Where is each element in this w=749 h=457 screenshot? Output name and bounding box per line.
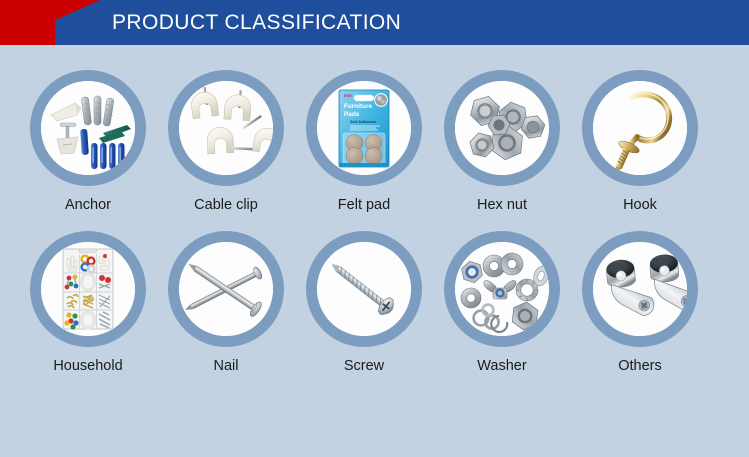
crossed-nails-icon (179, 242, 273, 336)
category-label: Household (53, 359, 122, 374)
page-header: PRODUCT CLASSIFICATION (0, 0, 749, 45)
category-image-frame (593, 81, 687, 175)
cable-clip-icon (179, 81, 273, 175)
category-label: Hex nut (477, 198, 527, 213)
category-item-others[interactable]: Others (582, 231, 698, 374)
category-item-washer[interactable]: Washer (444, 231, 560, 374)
category-disc (306, 231, 422, 347)
category-label: Anchor (65, 198, 111, 213)
category-item-nail[interactable]: Nail (168, 231, 284, 374)
package-line2: Pads (344, 111, 360, 118)
hex-nut-pile-icon (455, 81, 549, 175)
package-line3: Self Adhesive (350, 119, 377, 124)
category-item-hex-nut[interactable]: Hex nut (444, 70, 560, 213)
category-label: Cable clip (194, 198, 258, 213)
closet-rod-flange-icon (593, 242, 687, 336)
category-image-frame: mm Furniture Pads Self Adhesive (317, 81, 411, 175)
category-image-frame (455, 242, 549, 336)
category-disc (30, 231, 146, 347)
category-label: Others (618, 359, 662, 374)
category-disc: mm Furniture Pads Self Adhesive (306, 70, 422, 186)
category-image-frame (317, 242, 411, 336)
category-item-felt-pad[interactable]: mm Furniture Pads Self Adhesive (306, 70, 422, 213)
category-disc (582, 70, 698, 186)
product-classification-page: PRODUCT CLASSIFICATION (0, 0, 749, 457)
category-row: Anchor (30, 70, 720, 213)
category-disc (168, 70, 284, 186)
category-item-cable-clip[interactable]: Cable clip (168, 70, 284, 213)
category-disc (168, 231, 284, 347)
page-title: PRODUCT CLASSIFICATION (112, 0, 401, 45)
felt-pad-blister-pack-icon: mm Furniture Pads Self Adhesive (317, 81, 411, 175)
washer-assortment-icon (455, 242, 549, 336)
category-label: Washer (477, 359, 526, 374)
package-brand-text: mm (344, 93, 352, 98)
classification-board: Anchor (0, 45, 749, 457)
package-line1: Furniture (344, 103, 372, 110)
category-item-household[interactable]: Household (30, 231, 146, 374)
category-image-frame (41, 242, 135, 336)
category-item-screw[interactable]: Screw (306, 231, 422, 374)
category-disc (444, 70, 560, 186)
pan-head-screw-icon (317, 242, 411, 336)
category-image-frame (593, 242, 687, 336)
header-red-corner-icon (0, 0, 100, 45)
category-grid: Anchor (30, 70, 720, 373)
category-item-anchor[interactable]: Anchor (30, 70, 146, 213)
category-label: Hook (623, 198, 657, 213)
brass-cup-hook-icon (593, 81, 687, 175)
category-image-frame (455, 81, 549, 175)
wall-anchor-assortment-icon (41, 81, 135, 175)
category-disc (30, 70, 146, 186)
category-row: Household (30, 231, 720, 374)
category-label: Felt pad (338, 198, 390, 213)
category-label: Screw (344, 359, 384, 374)
category-image-frame (41, 81, 135, 175)
category-label: Nail (214, 359, 239, 374)
category-item-hook[interactable]: Hook (582, 70, 698, 213)
category-disc (582, 231, 698, 347)
category-image-frame (179, 81, 273, 175)
category-image-frame (179, 242, 273, 336)
category-disc (444, 231, 560, 347)
household-assortment-box-icon (41, 242, 135, 336)
